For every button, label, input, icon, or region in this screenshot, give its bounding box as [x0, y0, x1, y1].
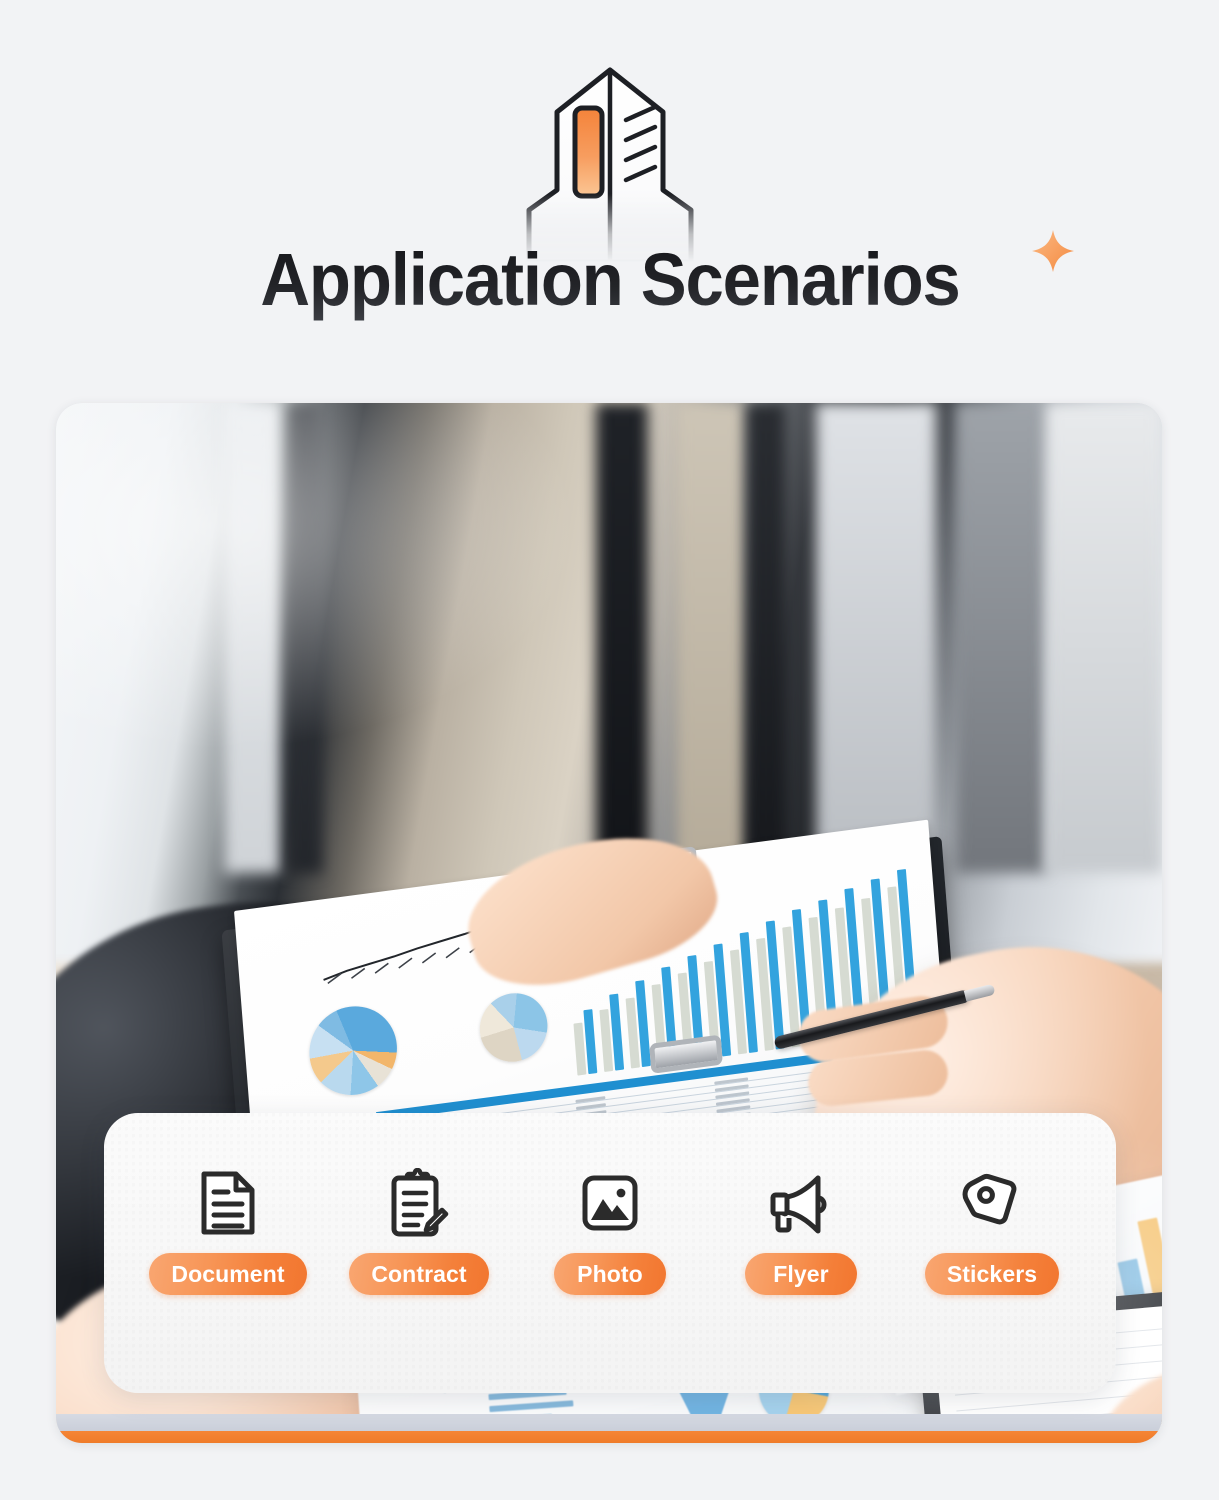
category-pill-document[interactable]: Document	[149, 1253, 306, 1295]
category-item-stickers[interactable]: Stickers	[904, 1165, 1080, 1295]
document-icon	[192, 1165, 264, 1241]
contract-icon	[383, 1165, 455, 1241]
category-pill-flyer[interactable]: Flyer	[745, 1253, 857, 1295]
background-pillar	[224, 403, 280, 873]
photo-accent-bar	[56, 1431, 1162, 1443]
photo-icon	[574, 1165, 646, 1241]
megaphone-icon	[765, 1165, 837, 1241]
building-tower-icon	[495, 62, 725, 262]
sparkle-star-icon	[1030, 228, 1076, 274]
background-pillar	[746, 403, 786, 873]
category-item-contract[interactable]: Contract	[331, 1165, 507, 1295]
report-pie-chart-2	[477, 989, 550, 1066]
category-row: Document Contract	[104, 1165, 1116, 1295]
category-pill-photo[interactable]: Photo	[554, 1253, 666, 1295]
tag-icon	[956, 1165, 1028, 1241]
background-pillar	[816, 403, 936, 873]
report-pie-chart-1	[306, 1001, 400, 1100]
background-pillar	[676, 403, 746, 873]
category-pill-stickers[interactable]: Stickers	[925, 1253, 1059, 1295]
category-item-flyer[interactable]: Flyer	[713, 1165, 889, 1295]
page-title: Application Scenarios	[260, 238, 959, 322]
category-item-photo[interactable]: Photo	[522, 1165, 698, 1295]
background-pillar	[1046, 403, 1162, 873]
page-header: Application Scenarios	[0, 0, 1219, 400]
background-pillar	[596, 403, 648, 873]
background-pillar	[956, 403, 1046, 873]
category-item-document[interactable]: Document	[140, 1165, 316, 1295]
background-pillar	[288, 403, 322, 873]
category-pill-contract[interactable]: Contract	[349, 1253, 488, 1295]
scenario-category-panel: Document Contract	[104, 1113, 1116, 1393]
